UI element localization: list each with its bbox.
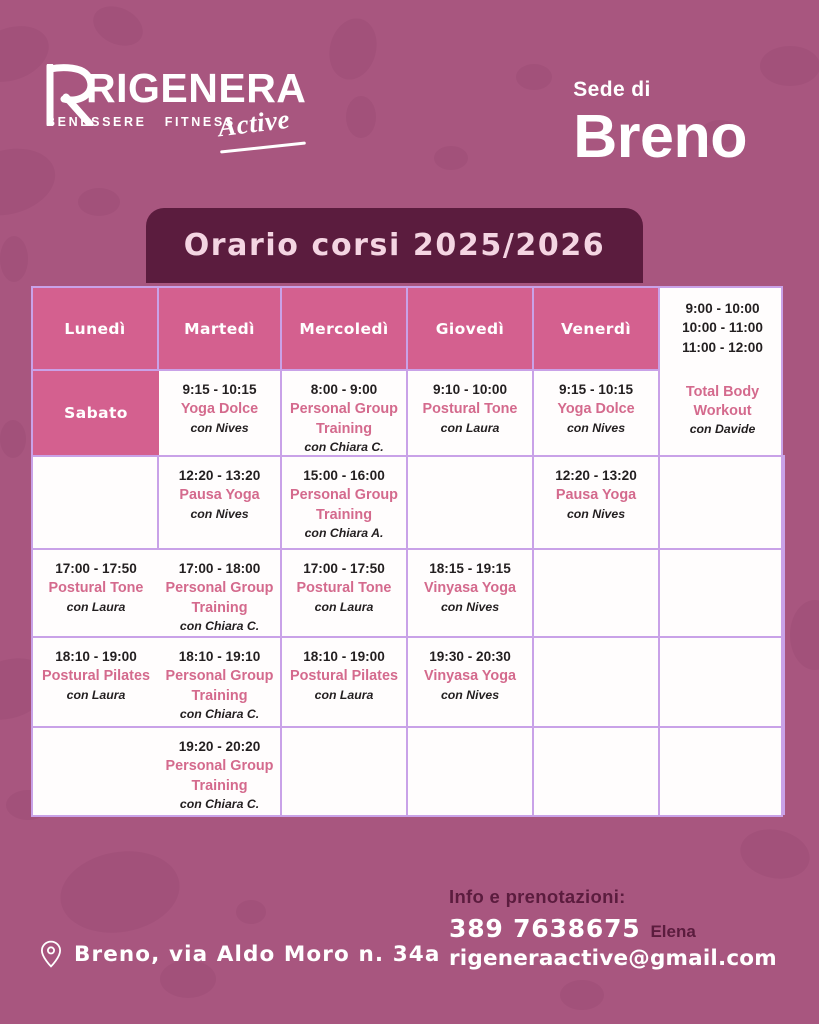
email-address[interactable]: rigeneraactive@gmail.com xyxy=(449,946,779,971)
table-cell[interactable]: 15:00 - 16:00 Personal Group Training co… xyxy=(282,457,408,550)
class-name: Pausa Yoga xyxy=(556,486,636,505)
class-teacher: con Chiara C. xyxy=(180,619,259,635)
table-cell-empty[interactable] xyxy=(534,550,660,638)
class-time: 9:15 - 10:15 xyxy=(182,380,256,399)
class-name: Yoga Dolce xyxy=(181,400,258,419)
table-cell[interactable]: 18:15 - 19:15 Vinyasa Yoga con Nives xyxy=(408,550,534,638)
brand-script-underline xyxy=(220,142,306,154)
class-name: Personal Group Training xyxy=(287,400,401,439)
class-name: Personal Group Training xyxy=(164,757,275,796)
class-teacher: con Chiara C. xyxy=(180,797,259,813)
sede-city: Breno xyxy=(573,104,747,168)
class-time: 17:00 - 17:50 xyxy=(303,559,385,578)
table-cell[interactable]: 9:15 - 10:15 Yoga Dolce con Nives xyxy=(534,371,660,457)
table-header-martedi: Martedì xyxy=(159,288,282,371)
table-cell[interactable]: 18:10 - 19:10 Personal Group Training co… xyxy=(159,638,282,728)
class-time: 19:30 - 20:30 xyxy=(429,647,511,666)
class-time: 18:15 - 19:15 xyxy=(429,559,511,578)
table-cell[interactable]: 9:15 - 10:15 Yoga Dolce con Nives xyxy=(159,371,282,457)
table-cell[interactable]: 19:20 - 20:20 Personal Group Training co… xyxy=(159,728,282,815)
contact-title: Info e prenotazioni: xyxy=(449,886,779,908)
class-time: 8:00 - 9:00 xyxy=(311,380,378,399)
table-cell-sabato-block[interactable]: 9:00 - 10:00 10:00 - 11:00 11:00 - 12:00… xyxy=(660,288,785,457)
table-header-venerdi: Venerdì xyxy=(534,288,660,371)
class-teacher: con Chiara C. xyxy=(180,707,259,723)
class-teacher: con Nives xyxy=(190,507,248,523)
class-name: Yoga Dolce xyxy=(557,400,634,419)
class-name: Postural Tone xyxy=(423,400,518,419)
class-teacher: con Laura xyxy=(441,421,500,437)
class-time: 19:20 - 20:20 xyxy=(179,737,261,756)
page-title-text: Orario corsi 2025/2026 xyxy=(184,228,606,263)
class-teacher: con Nives xyxy=(567,421,625,437)
class-name: Postural Tone xyxy=(297,579,392,598)
table-cell-empty[interactable] xyxy=(660,457,785,550)
table-cell-empty[interactable] xyxy=(534,638,660,728)
class-name: Personal Group Training xyxy=(164,667,275,706)
table-header-sabato: Sabato xyxy=(33,371,159,457)
class-teacher: con Laura xyxy=(67,600,126,616)
contact-person-name: Elena xyxy=(650,922,695,942)
schedule-table: Lunedì Martedì Mercoledì Giovedì Venerdì… xyxy=(31,286,783,817)
class-teacher: con Laura xyxy=(315,688,374,704)
class-time: 12:20 - 13:20 xyxy=(555,466,637,485)
class-time: 11:00 - 12:00 xyxy=(682,338,763,357)
class-time: 18:10 - 19:00 xyxy=(55,647,137,666)
day-label: Lunedì xyxy=(64,320,125,338)
table-cell[interactable]: 12:20 - 13:20 Pausa Yoga con Nives xyxy=(159,457,282,550)
class-teacher: con Nives xyxy=(441,600,499,616)
table-cell[interactable]: 18:10 - 19:00 Postural Pilates con Laura xyxy=(282,638,408,728)
brand-logo: RIGENERA BENESSERE FITNESS Active xyxy=(42,68,282,173)
location-pin-icon xyxy=(40,940,62,968)
class-name: Pausa Yoga xyxy=(179,486,259,505)
class-time: 18:10 - 19:00 xyxy=(303,647,385,666)
table-cell[interactable]: 18:10 - 19:00 Postural Pilates con Laura xyxy=(33,638,159,728)
class-time: 17:00 - 18:00 xyxy=(179,559,261,578)
day-label: Venerdì xyxy=(561,320,631,338)
class-time: 9:15 - 10:15 xyxy=(559,380,633,399)
phone-line: 389 7638675 Elena xyxy=(449,914,779,943)
class-teacher: con Laura xyxy=(67,688,126,704)
sede-label: Sede di xyxy=(573,78,747,102)
address-block: Breno, via Aldo Moro n. 34a xyxy=(40,940,440,968)
table-cell-empty[interactable] xyxy=(408,728,534,815)
table-cell[interactable]: 9:10 - 10:00 Postural Tone con Laura xyxy=(408,371,534,457)
table-cell-empty[interactable] xyxy=(660,638,785,728)
class-teacher: con Nives xyxy=(190,421,248,437)
table-cell-empty[interactable] xyxy=(282,728,408,815)
table-cell[interactable]: 17:00 - 17:50 Postural Tone con Laura xyxy=(33,550,159,638)
table-cell[interactable]: 17:00 - 17:50 Postural Tone con Laura xyxy=(282,550,408,638)
class-time: 17:00 - 17:50 xyxy=(55,559,137,578)
class-name: Postural Pilates xyxy=(42,667,150,686)
table-header-giovedi: Giovedì xyxy=(408,288,534,371)
table-cell[interactable]: 19:30 - 20:30 Vinyasa Yoga con Nives xyxy=(408,638,534,728)
contact-block: Info e prenotazioni: 389 7638675 Elena r… xyxy=(449,886,779,971)
class-time: 9:10 - 10:00 xyxy=(433,380,507,399)
class-name: Vinyasa Yoga xyxy=(424,667,516,686)
table-cell[interactable]: 8:00 - 9:00 Personal Group Training con … xyxy=(282,371,408,457)
class-time: 18:10 - 19:10 xyxy=(179,647,261,666)
class-name: Postural Pilates xyxy=(290,667,398,686)
class-name: Personal Group Training xyxy=(287,486,401,525)
location-header: Sede di Breno xyxy=(573,78,747,168)
class-teacher: con Davide xyxy=(690,422,756,438)
table-cell[interactable]: 12:20 - 13:20 Pausa Yoga con Nives xyxy=(534,457,660,550)
class-name: Personal Group Training xyxy=(164,579,275,618)
class-name: Total Body Workout xyxy=(665,383,780,422)
day-label: Sabato xyxy=(64,404,128,422)
phone-number[interactable]: 389 7638675 xyxy=(449,914,640,943)
class-teacher: con Nives xyxy=(567,507,625,523)
table-header-lunedi: Lunedì xyxy=(33,288,159,371)
table-cell-empty[interactable] xyxy=(33,457,159,550)
day-label: Giovedì xyxy=(436,320,505,338)
class-teacher: con Nives xyxy=(441,688,499,704)
page-title: Orario corsi 2025/2026 xyxy=(146,208,643,283)
class-teacher: con Chiara A. xyxy=(305,526,384,542)
day-label: Martedì xyxy=(184,320,255,338)
class-name: Postural Tone xyxy=(49,579,144,598)
class-time: 9:00 - 10:00 xyxy=(685,299,759,318)
class-name: Vinyasa Yoga xyxy=(424,579,516,598)
table-cell-empty[interactable] xyxy=(33,728,159,815)
table-cell-empty[interactable] xyxy=(408,457,534,550)
class-time: 10:00 - 11:00 xyxy=(682,318,763,337)
table-cell-empty[interactable] xyxy=(660,550,785,638)
day-label: Mercoledì xyxy=(299,320,388,338)
class-teacher: con Laura xyxy=(315,600,374,616)
table-cell[interactable]: 17:00 - 18:00 Personal Group Training co… xyxy=(159,550,282,638)
schedule-poster: RIGENERA BENESSERE FITNESS Active Sede d… xyxy=(0,0,819,1024)
address-text: Breno, via Aldo Moro n. 34a xyxy=(74,942,440,967)
rigenera-r-mark-icon xyxy=(44,64,98,126)
table-header-mercoledi: Mercoledì xyxy=(282,288,408,371)
class-time: 12:20 - 13:20 xyxy=(179,466,261,485)
class-time: 15:00 - 16:00 xyxy=(303,466,385,485)
class-teacher: con Chiara C. xyxy=(304,440,383,456)
table-cell-empty[interactable] xyxy=(534,728,660,815)
table-cell-empty[interactable] xyxy=(660,728,785,815)
